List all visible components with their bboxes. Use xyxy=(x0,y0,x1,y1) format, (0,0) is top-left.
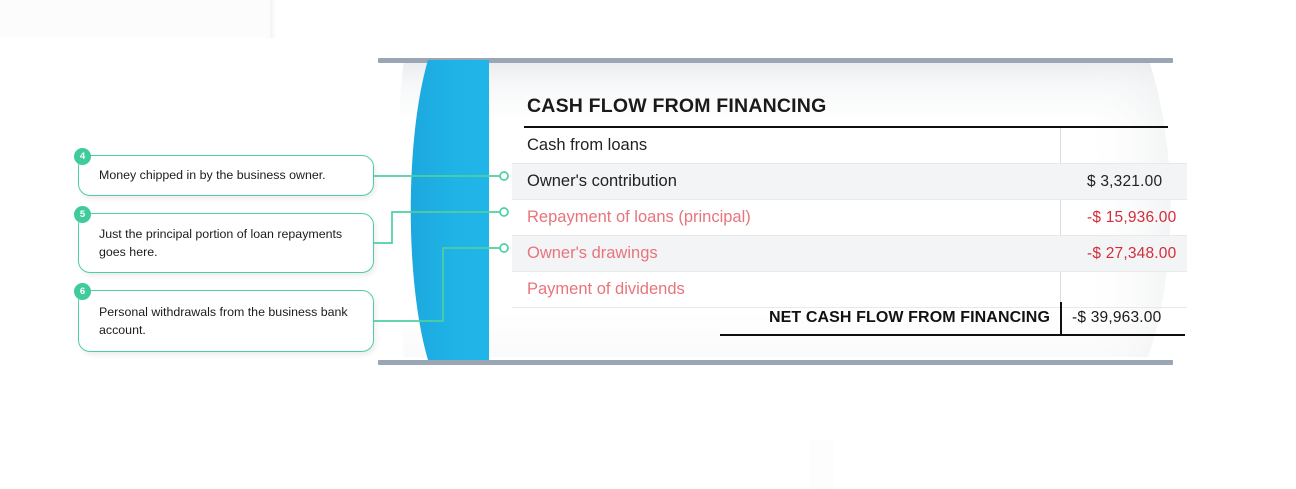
row-amount: -$ 27,348.00 xyxy=(1075,245,1176,263)
table-row[interactable]: Owner's contribution $ 3,321.00 xyxy=(512,164,1187,200)
row-label: Owner's drawings xyxy=(512,244,1075,263)
top-left-panel xyxy=(0,0,275,38)
callout-box-6[interactable]: Personal withdrawals from the business b… xyxy=(78,290,374,352)
row-label: Owner's contribution xyxy=(512,172,1075,191)
blue-spine xyxy=(400,60,495,367)
blue-spine-shape xyxy=(400,60,495,362)
page-title: CASH FLOW FROM FINANCING xyxy=(512,95,826,118)
net-total-row: NET CASH FLOW FROM FINANCING -$ 39,963.0… xyxy=(512,300,1187,336)
row-label: Repayment of loans (principal) xyxy=(512,208,1075,227)
table-row[interactable]: Repayment of loans (principal) -$ 15,936… xyxy=(512,200,1187,236)
callout-badge-5: 5 xyxy=(74,206,91,223)
row-amount: -$ 15,936.00 xyxy=(1075,209,1176,227)
callout-text: Money chipped in by the business owner. xyxy=(79,166,340,184)
net-total-amount: -$ 39,963.00 xyxy=(1060,309,1161,327)
bottom-decorative-strip xyxy=(810,440,834,489)
total-underline xyxy=(720,334,1185,336)
row-amount: $ 3,321.00 xyxy=(1075,173,1162,191)
callout-badge-6: 6 xyxy=(74,283,91,300)
top-left-panel-edge xyxy=(270,0,276,38)
callout-box-5[interactable]: Just the principal portion of loan repay… xyxy=(78,213,374,273)
callout-badge-4: 4 xyxy=(74,148,91,165)
total-divider xyxy=(1060,302,1062,335)
table-row[interactable]: Owner's drawings -$ 27,348.00 xyxy=(512,236,1187,272)
callout-box-4[interactable]: Money chipped in by the business owner. xyxy=(78,155,374,196)
row-label: Cash from loans xyxy=(512,136,1075,155)
table-row[interactable]: Cash from loans xyxy=(512,128,1187,164)
row-label: Payment of dividends xyxy=(512,280,1075,299)
callout-text: Just the principal portion of loan repay… xyxy=(79,225,373,262)
callout-text: Personal withdrawals from the business b… xyxy=(79,303,373,340)
table-title-row: CASH FLOW FROM FINANCING xyxy=(512,86,1172,126)
net-total-label: NET CASH FLOW FROM FINANCING xyxy=(512,309,1060,327)
cash-flow-table: CASH FLOW FROM FINANCING Cash from loans… xyxy=(512,62,1187,362)
